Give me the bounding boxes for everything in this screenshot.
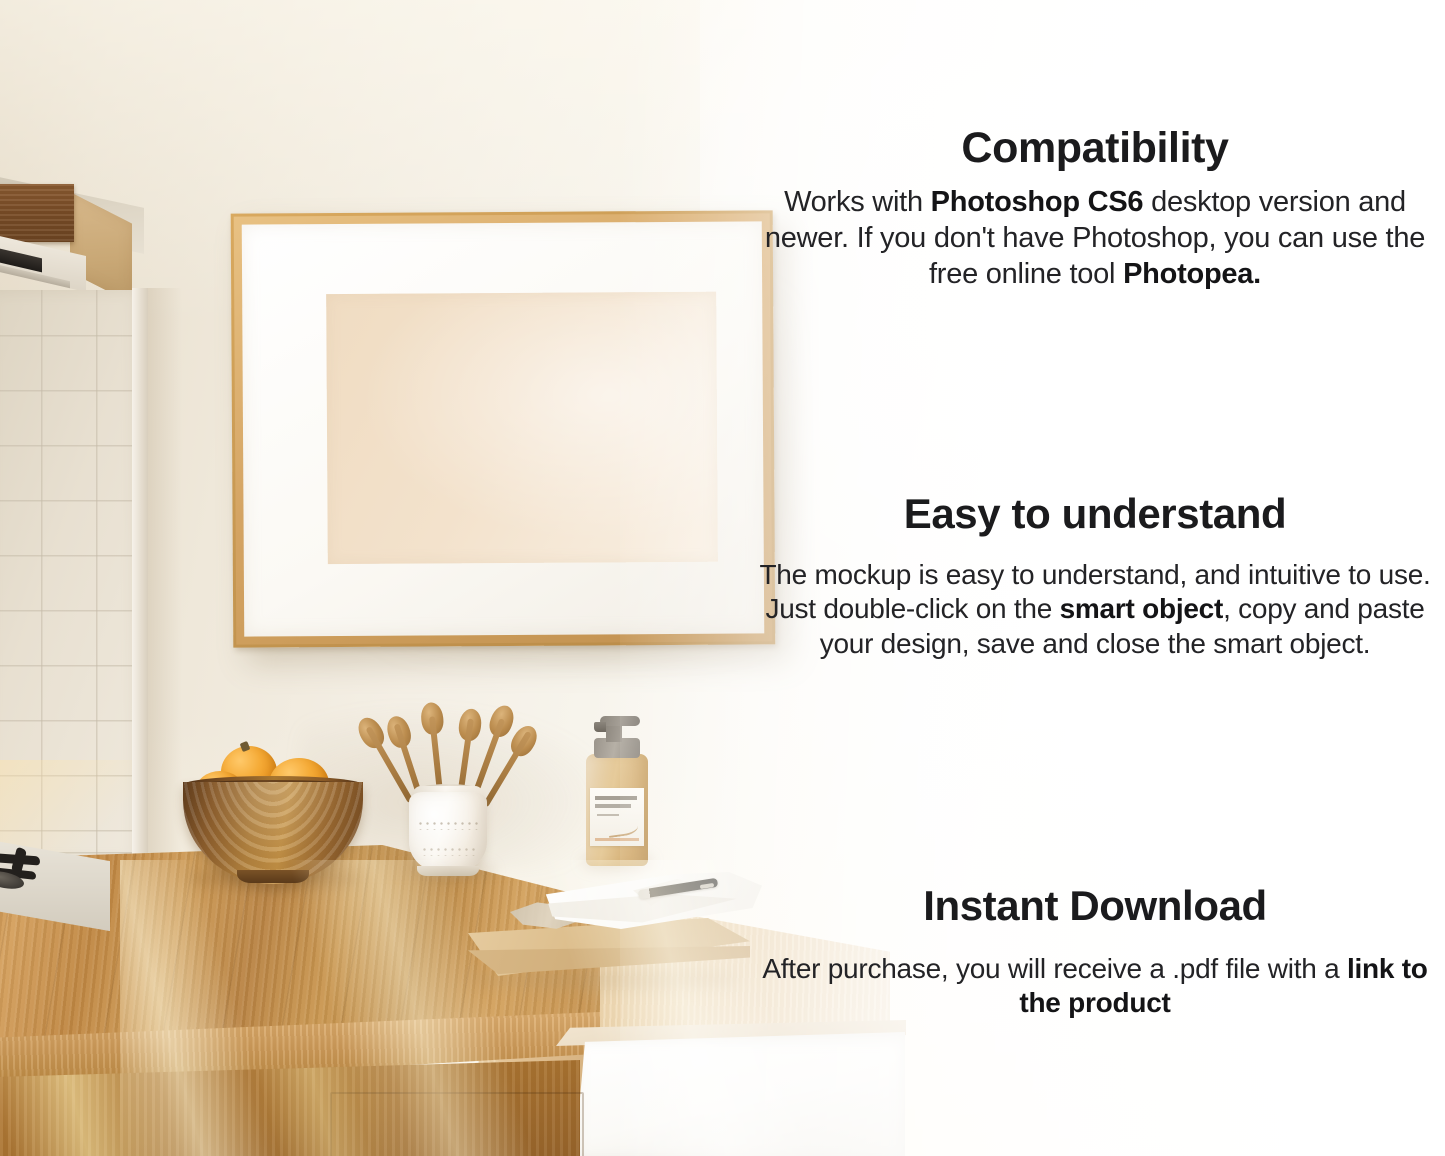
soap-label-flourish: [607, 818, 639, 838]
range-hood-wood-box: [0, 184, 74, 242]
soap-label-line: [595, 796, 637, 800]
soap-dispenser: [578, 708, 656, 868]
easy-headline: Easy to understand: [745, 492, 1445, 536]
range-hood: [0, 170, 144, 292]
compatibility-headline: Compatibility: [745, 126, 1445, 171]
instant-headline: Instant Download: [745, 884, 1445, 928]
soap-pump: [600, 716, 640, 726]
backsplash-shadow: [148, 288, 182, 866]
section-compatibility: Compatibility Works with Photoshop CS6 d…: [745, 126, 1445, 293]
soap-label-line: [595, 804, 631, 808]
crock-dot-texture: [421, 846, 475, 856]
text-run: After purchase, you will receive a .pdf …: [762, 953, 1347, 984]
utensil-crock: [395, 700, 499, 875]
text-run: Works with: [784, 186, 931, 218]
text-run-bold: smart object: [1060, 593, 1224, 624]
frame-artwork-area: [326, 292, 718, 564]
mockup-listing-image: Compatibility Works with Photoshop CS6 d…: [0, 0, 1445, 1156]
marketing-copy: Compatibility Works with Photoshop CS6 d…: [745, 0, 1445, 1156]
backsplash-edge: [132, 288, 148, 866]
compatibility-body: Works with Photoshop CS6 desktop version…: [745, 185, 1445, 293]
text-run-bold: Photopea.: [1123, 258, 1261, 290]
text-run-bold: Photoshop CS6: [931, 186, 1144, 218]
soap-neck: [606, 724, 622, 742]
frame-mat: [242, 221, 765, 636]
instant-body: After purchase, you will receive a .pdf …: [745, 952, 1445, 1021]
picture-frame: [231, 210, 776, 647]
soap-label-line: [597, 814, 619, 816]
easy-body: The mockup is easy to understand, and in…: [745, 558, 1445, 662]
soap-spout: [594, 722, 606, 732]
section-easy-to-understand: Easy to understand The mockup is easy to…: [745, 492, 1445, 662]
crock-dot-texture: [417, 820, 479, 830]
soap-label-line: [595, 838, 639, 841]
soap-label: [590, 788, 644, 846]
section-instant-download: Instant Download After purchase, you wil…: [745, 884, 1445, 1021]
